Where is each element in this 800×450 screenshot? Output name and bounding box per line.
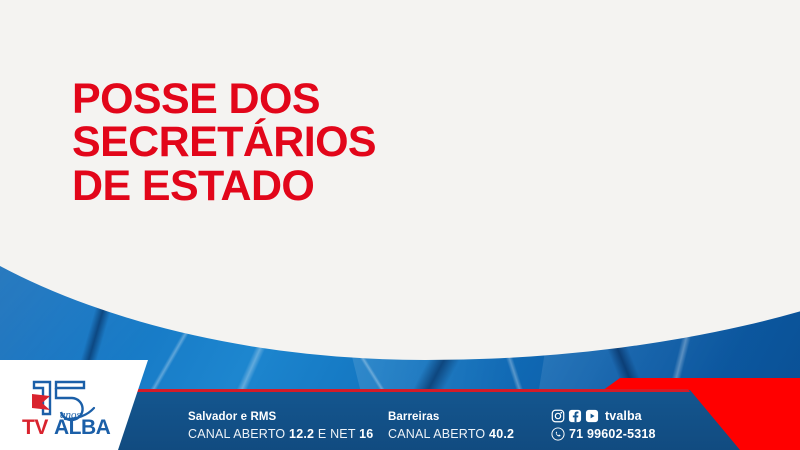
page-title: POSSE DOS SECRETÁRIOS DE ESTADO (72, 78, 532, 208)
youtube-icon[interactable] (585, 409, 599, 423)
logo-alba-text: ALBA (54, 416, 111, 436)
region-block-salvador: Salvador e RMS CANAL ABERTO 12.2 E NET 1… (188, 410, 373, 442)
logo-tv-text: TV (22, 416, 48, 436)
social-handles-row: tvalba (551, 408, 656, 424)
instagram-icon[interactable] (551, 409, 565, 423)
tvalba-logo-mark: anos TV ALBA (18, 374, 124, 436)
social-block: tvalba 71 99602-5318 (551, 408, 656, 442)
whatsapp-row: 71 99602-5318 (551, 425, 656, 442)
title-line-2: SECRETÁRIOS (72, 121, 532, 164)
canal-aberto-label-barreiras: CANAL ABERTO (388, 427, 485, 441)
channel-number-salvador: 12.2 (289, 427, 314, 441)
title-line-3: DE ESTADO (72, 165, 532, 208)
net-number-salvador: 16 (359, 427, 373, 441)
region-name-barreiras: Barreiras (388, 410, 514, 425)
canal-aberto-label-salvador: CANAL ABERTO (188, 427, 285, 441)
region-channels-barreiras: CANAL ABERTO 40.2 (388, 426, 514, 442)
channel-number-barreiras: 40.2 (489, 427, 514, 441)
region-name-salvador: Salvador e RMS (188, 410, 373, 425)
whatsapp-icon[interactable] (551, 427, 565, 441)
region-channels-salvador: CANAL ABERTO 12.2 E NET 16 (188, 426, 373, 442)
tvalba-logo[interactable]: anos TV ALBA (18, 374, 124, 436)
facebook-icon[interactable] (568, 409, 582, 423)
region-block-barreiras: Barreiras CANAL ABERTO 40.2 (388, 410, 514, 442)
whatsapp-phone[interactable]: 71 99602-5318 (569, 427, 656, 441)
social-handle[interactable]: tvalba (605, 409, 642, 423)
net-label-salvador: E NET (318, 427, 356, 441)
broadcast-slate: POSSE DOS SECRETÁRIOS DE ESTADO anos TV … (0, 0, 800, 450)
title-line-1: POSSE DOS (72, 78, 532, 121)
